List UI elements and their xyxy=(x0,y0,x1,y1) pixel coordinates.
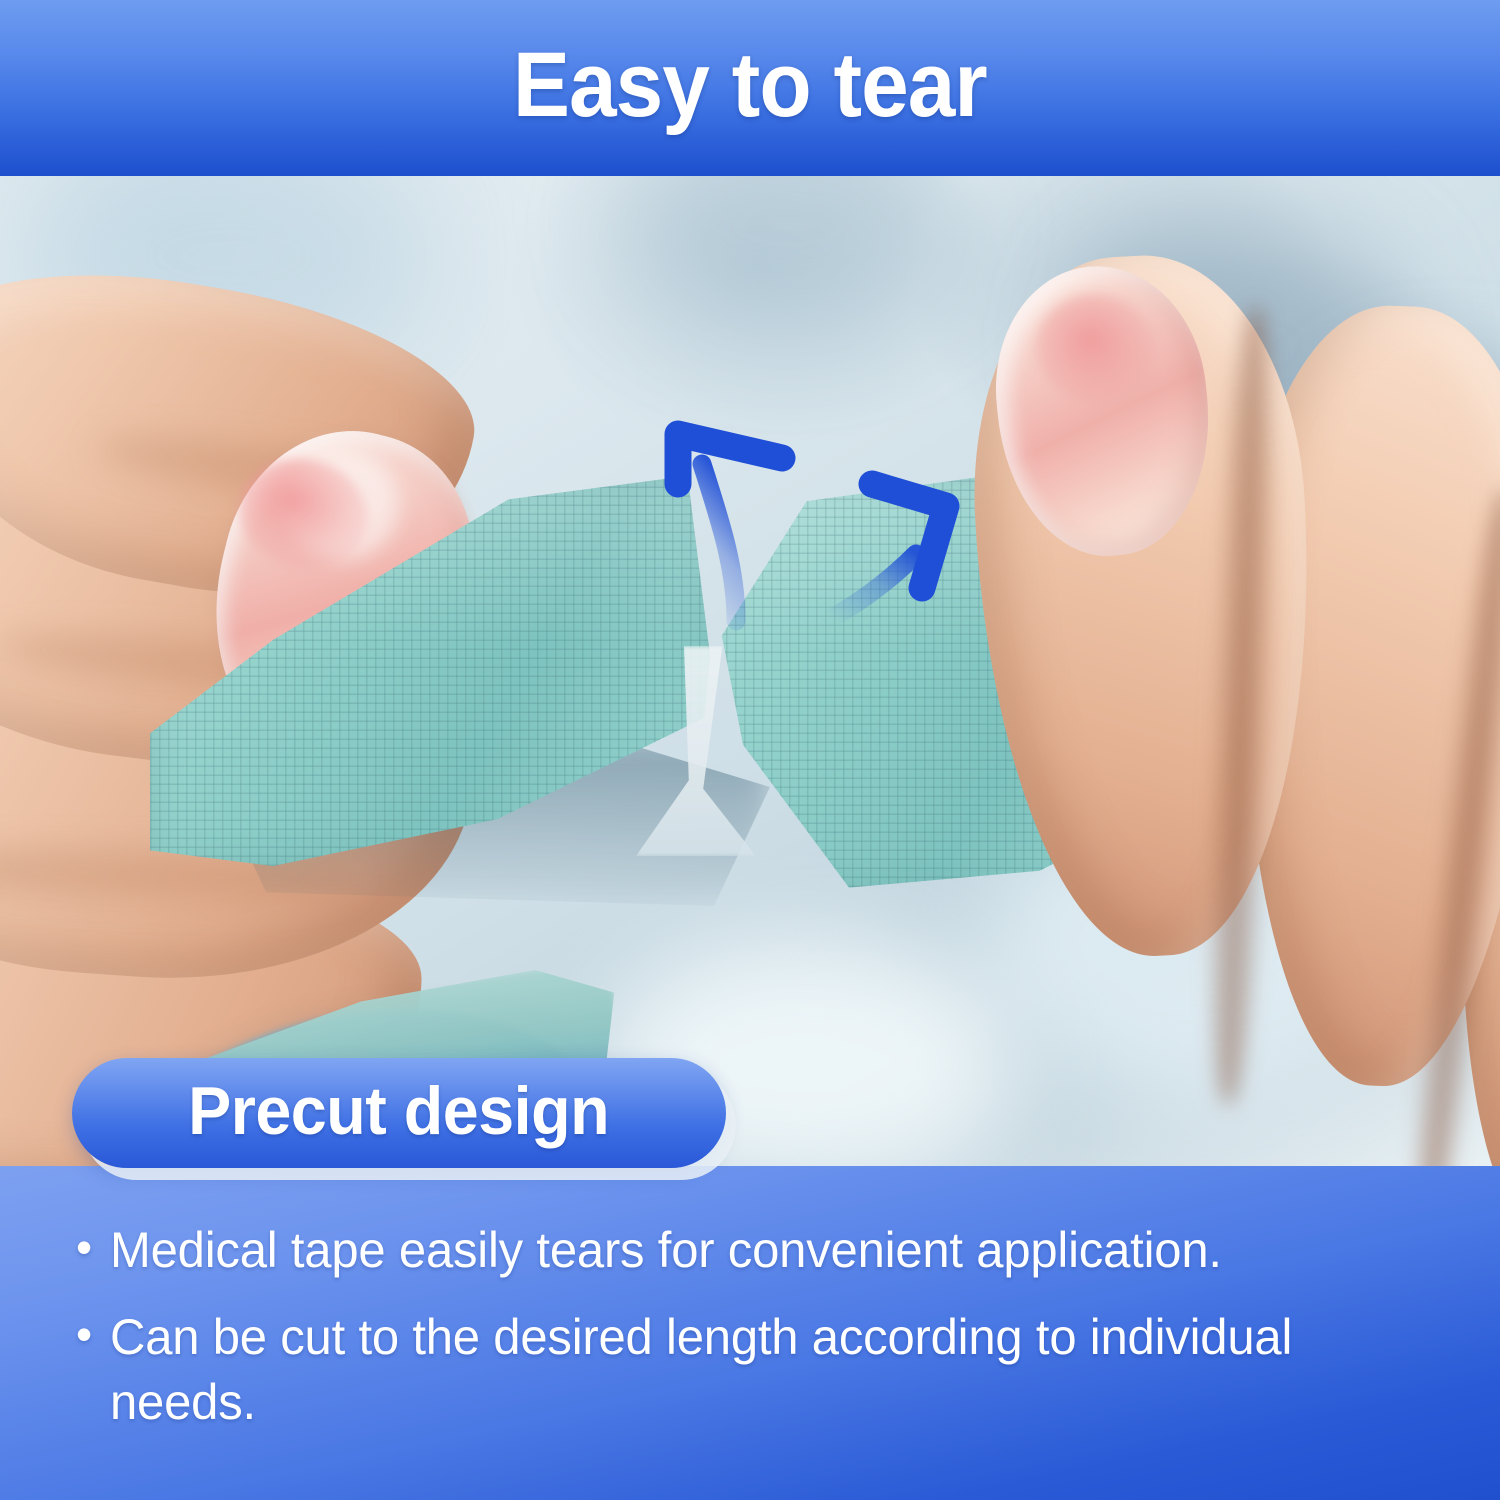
list-item: • Medical tape easily tears for convenie… xyxy=(76,1218,1436,1283)
list-item: • Can be cut to the desired length accor… xyxy=(76,1305,1436,1435)
bullet-icon: • xyxy=(76,1305,110,1365)
arrow-up-left xyxy=(678,434,782,621)
header-banner: Easy to tear xyxy=(0,0,1500,176)
product-feature-card: Easy to tear xyxy=(0,0,1500,1500)
bullet-icon: • xyxy=(76,1218,110,1278)
right-hand xyxy=(940,186,1500,1166)
feature-bullet-list: • Medical tape easily tears for convenie… xyxy=(76,1218,1436,1435)
arrow-up-right xyxy=(832,484,946,618)
precut-design-badge: Precut design xyxy=(72,1058,726,1168)
bullet-text: Can be cut to the desired length accordi… xyxy=(110,1305,1409,1435)
footer-panel: • Medical tape easily tears for convenie… xyxy=(0,1166,1500,1500)
product-photo xyxy=(0,176,1500,1166)
page-title: Easy to tear xyxy=(513,39,987,137)
badge-label: Precut design xyxy=(188,1072,609,1154)
fingernail-highlight xyxy=(1036,294,1156,402)
tear-direction-arrows xyxy=(660,406,1020,656)
bullet-text: Medical tape easily tears for convenient… xyxy=(110,1218,1409,1283)
